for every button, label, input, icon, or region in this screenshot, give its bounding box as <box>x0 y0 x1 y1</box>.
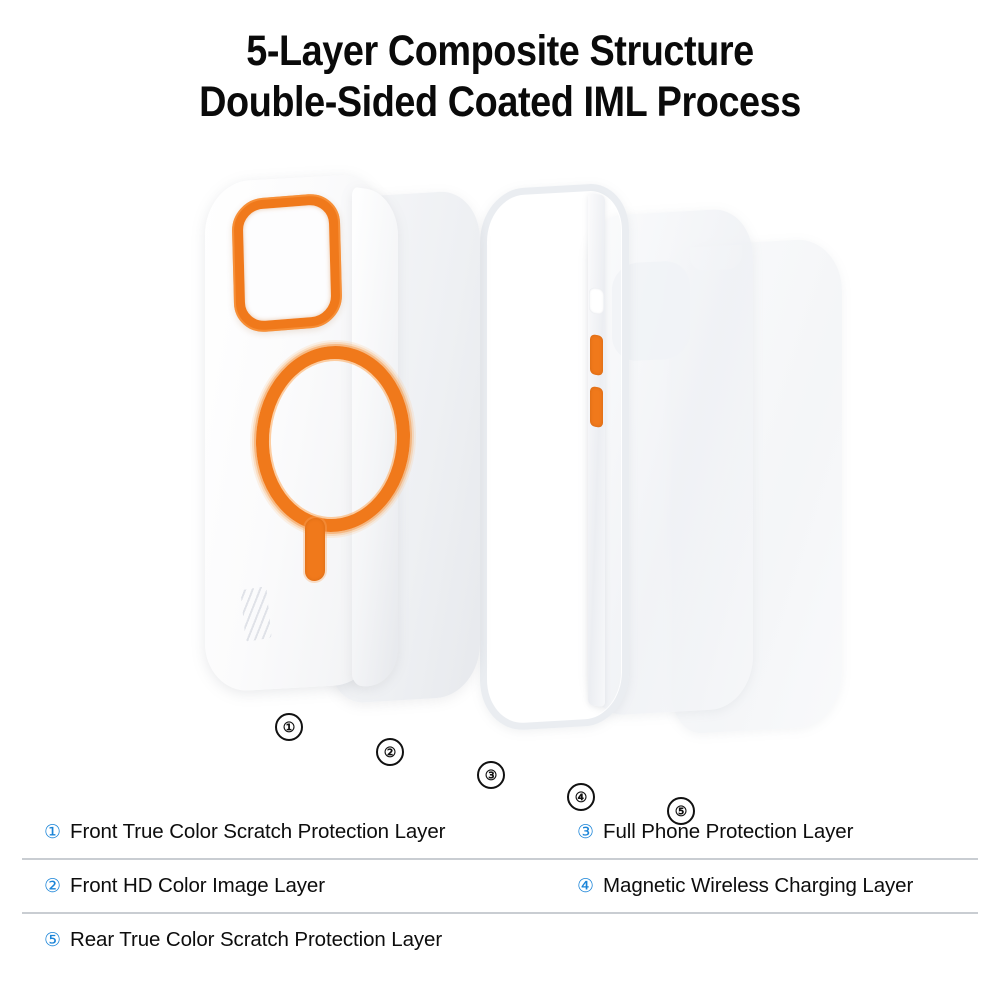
legend-item-4: ④ Magnetic Wireless Charging Layer <box>577 874 978 898</box>
legend-label-1: Front True Color Scratch Protection Laye… <box>70 820 445 844</box>
layer-3-side-rail <box>588 193 605 707</box>
legend-item-5: ⑤ Rear True Color Scratch Protection Lay… <box>22 928 577 952</box>
exploded-view-illustration: SLEEK TOUCH, SMOOTH TEXTURE ULTRASLEEK ①… <box>0 150 1000 810</box>
magsafe-alignment-pill <box>305 517 325 581</box>
legend-label-4: Magnetic Wireless Charging Layer <box>603 874 913 898</box>
legend-marker-5: ⑤ <box>44 931 61 950</box>
callout-marker-1: ① <box>275 713 303 741</box>
legend-marker-2: ② <box>44 877 61 896</box>
legend-item-3: ③ Full Phone Protection Layer <box>577 820 978 844</box>
callout-marker-2: ② <box>376 738 404 766</box>
legend-row: ② Front HD Color Image Layer ④ Magnetic … <box>22 858 978 912</box>
volume-down-button <box>590 386 603 428</box>
speaker-grille-icon <box>240 586 271 642</box>
mute-switch-slot <box>589 287 604 315</box>
volume-up-button <box>590 334 603 376</box>
legend-marker-4: ④ <box>577 877 594 896</box>
legend-label-5: Rear True Color Scratch Protection Layer <box>70 928 442 952</box>
camera-cutout-ring <box>231 192 342 334</box>
legend-marker-1: ① <box>44 823 61 842</box>
legend-marker-3: ③ <box>577 823 594 842</box>
legend-label-2: Front HD Color Image Layer <box>70 874 325 898</box>
legend-label-3: Full Phone Protection Layer <box>603 820 853 844</box>
title-line-2: Double-Sided Coated IML Process <box>60 77 940 128</box>
case-layer-3-full-phone-protection <box>480 182 629 732</box>
legend-row: ⑤ Rear True Color Scratch Protection Lay… <box>22 912 978 966</box>
legend-item-1: ① Front True Color Scratch Protection La… <box>22 820 577 844</box>
title-line-1: 5-Layer Composite Structure <box>60 26 940 77</box>
legend-list: ① Front True Color Scratch Protection La… <box>22 806 978 966</box>
legend-item-2: ② Front HD Color Image Layer <box>22 874 577 898</box>
callout-marker-3: ③ <box>477 761 505 789</box>
legend-row: ① Front True Color Scratch Protection La… <box>22 806 978 858</box>
page-title: 5-Layer Composite Structure Double-Sided… <box>0 26 1000 128</box>
